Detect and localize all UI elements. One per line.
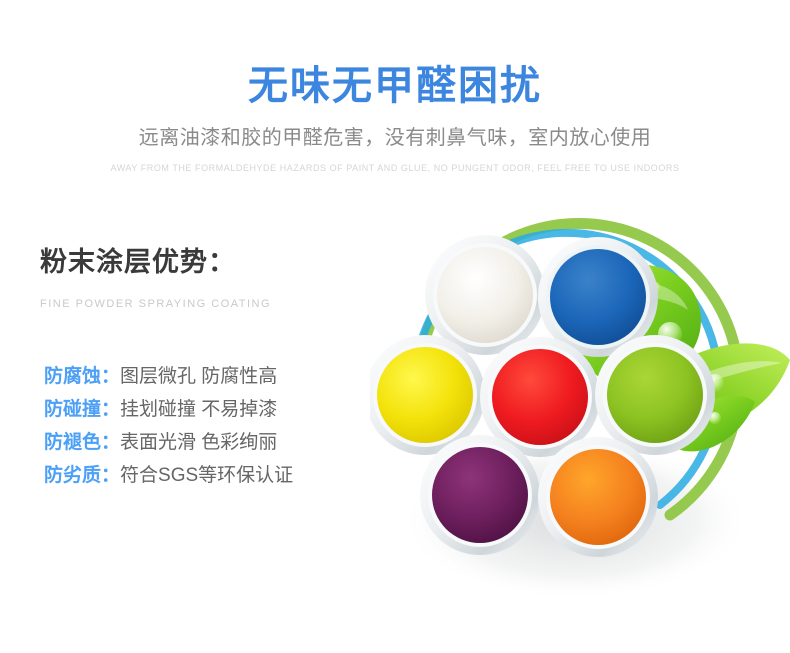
feature-text: 表面光滑 色彩绚丽 — [120, 432, 277, 453]
feature-text: 图层微孔 防腐性高 — [120, 366, 277, 387]
section-heading-english: FINE POWDER SPRAYING COATING — [40, 278, 380, 311]
list-item: 防劣质：符合SGS等环保认证 — [44, 459, 374, 492]
list-item: 防褪色：表面光滑 色彩绚丽 — [44, 426, 374, 459]
list-item: 防碰撞：挂划碰撞 不易掉漆 — [44, 393, 374, 426]
orange-powder-jar — [538, 437, 658, 557]
subtitle-english: AWAY FROM THE FORMALDEHYDE HAZARDS OF PA… — [0, 151, 790, 175]
feature-label: 防碰撞： — [44, 399, 120, 420]
product-photo — [370, 190, 790, 610]
page-title: 无味无甲醛困扰 — [0, 0, 790, 109]
feature-label: 防劣质： — [44, 465, 120, 486]
feature-list: 防腐蚀：图层微孔 防腐性高 防碰撞：挂划碰撞 不易掉漆 防褪色：表面光滑 色彩绚… — [44, 360, 374, 492]
section-heading: 粉末涂层优势： — [40, 246, 380, 278]
feature-text: 符合SGS等环保认证 — [120, 465, 293, 486]
subtitle-chinese: 远离油漆和胶的甲醛危害，没有刺鼻气味，室内放心使用 — [0, 109, 790, 151]
feature-text: 挂划碰撞 不易掉漆 — [120, 399, 277, 420]
advantages-block: 粉末涂层优势： FINE POWDER SPRAYING COATING 防腐蚀… — [40, 246, 380, 312]
list-item: 防腐蚀：图层微孔 防腐性高 — [44, 360, 374, 393]
promo-page: 无味无甲醛困扰 远离油漆和胶的甲醛危害，没有刺鼻气味，室内放心使用 AWAY F… — [0, 0, 790, 653]
white-powder-jar — [425, 235, 545, 355]
feature-label: 防腐蚀： — [44, 366, 120, 387]
purple-powder-jar — [420, 435, 540, 555]
header-block: 无味无甲醛困扰 远离油漆和胶的甲醛危害，没有刺鼻气味，室内放心使用 AWAY F… — [0, 0, 790, 174]
green-powder-jar — [595, 335, 715, 455]
feature-label: 防褪色： — [44, 432, 120, 453]
